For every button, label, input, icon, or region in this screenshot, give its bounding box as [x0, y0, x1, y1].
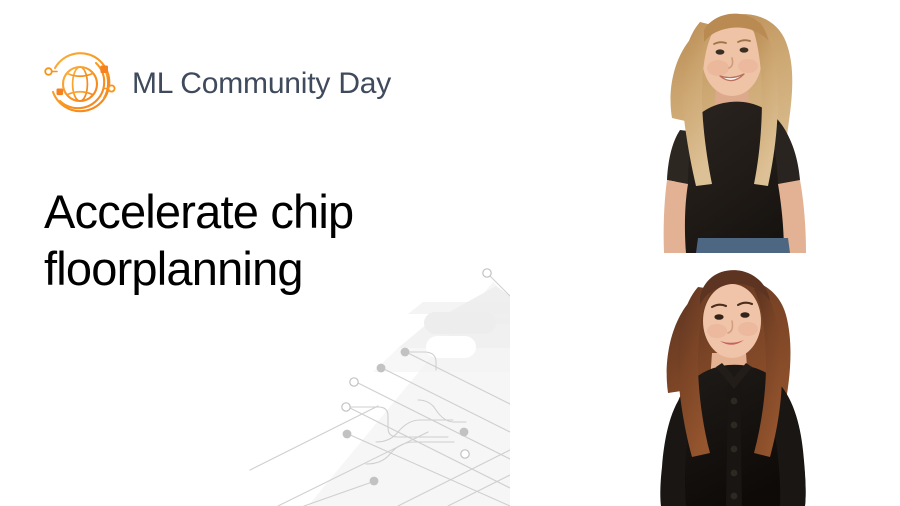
- brand-title: ML Community Day: [132, 69, 391, 99]
- left-content-column: ML Community Day Accelerate chip floorpl…: [0, 0, 620, 506]
- presentation-slide: ML Community Day Accelerate chip floorpl…: [0, 0, 900, 506]
- globe-orbit-icon: [38, 44, 122, 124]
- slide-headline: Accelerate chip floorplanning: [44, 183, 584, 297]
- circuit-traces: [250, 276, 510, 506]
- speaker-photo-2: [620, 253, 900, 506]
- speaker-1-figure: [664, 14, 806, 253]
- circuit-nodes: [342, 269, 491, 486]
- circuit-background-bands: [308, 282, 510, 506]
- speaker-photo-1: [620, 0, 900, 253]
- brand-lockup: ML Community Day: [38, 44, 391, 124]
